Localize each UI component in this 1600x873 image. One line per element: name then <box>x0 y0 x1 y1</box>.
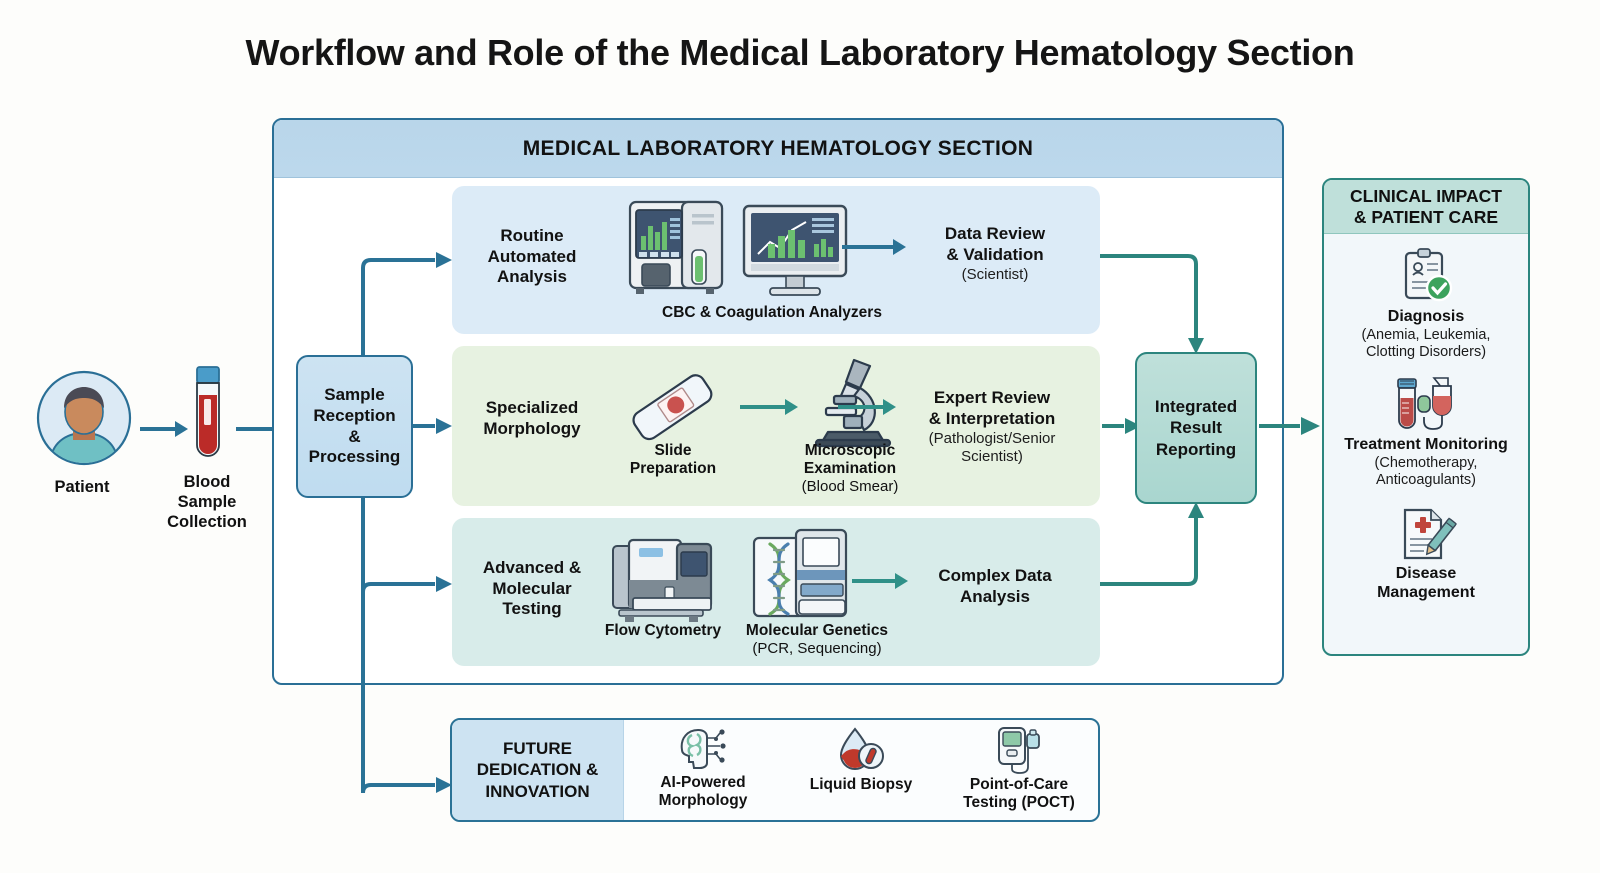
sample-reception-processing-box[interactable]: SampleReception&Processing <box>296 355 413 498</box>
diagram-canvas: Workflow and Role of the Medical Laborat… <box>0 0 1600 873</box>
integrated-result-reporting-label: IntegratedResultReporting <box>1155 396 1237 459</box>
integrated-result-reporting-box[interactable]: IntegratedResultReporting <box>1135 352 1257 504</box>
flow-connectors <box>0 0 1600 873</box>
sample-reception-label: SampleReception&Processing <box>309 385 401 468</box>
